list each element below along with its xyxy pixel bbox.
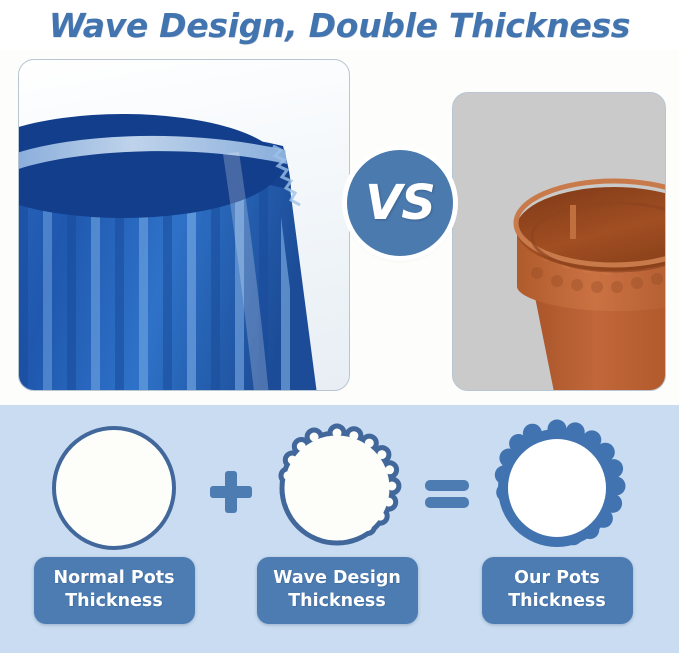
comparison-section: VS: [0, 50, 679, 405]
thickness-formula-section: Normal Pots Thickness: [0, 405, 679, 653]
thick-wavy-inner-disc: [508, 439, 606, 537]
label-line-2: Thickness: [42, 590, 187, 613]
formula-item-wave-design: Wave Design Thickness: [254, 419, 420, 624]
blue-pot-photo-card: [18, 59, 350, 391]
wavy-circle-holder: [270, 419, 404, 557]
infographic-root: Wave Design, Double Thickness: [0, 0, 679, 653]
thick-wavy-circle-icon: [484, 415, 630, 561]
terracotta-pot-illustration: [475, 137, 666, 391]
label-wave-design-thickness: Wave Design Thickness: [257, 557, 418, 624]
page-title: Wave Design, Double Thickness: [49, 6, 630, 45]
plus-operator-icon: [206, 467, 256, 517]
wavy-circle-shape: [276, 426, 399, 549]
equals-operator-icon: [422, 467, 472, 517]
label-line-1: Wave Design: [265, 567, 410, 590]
label-line-2: Thickness: [265, 590, 410, 613]
plain-circle-holder: [47, 419, 181, 557]
label-line-2: Thickness: [490, 590, 625, 613]
formula-item-our-pots: Our Pots Thickness: [474, 419, 640, 624]
terracotta-pot-photo-card: [452, 92, 666, 391]
versus-badge: VS: [347, 150, 453, 256]
title-bar: Wave Design, Double Thickness: [0, 0, 679, 50]
wavy-circle-icon: [270, 421, 404, 555]
thick-wavy-circle-holder: [484, 419, 630, 557]
terracotta-inner-tab: [570, 205, 576, 239]
versus-label: VS: [365, 179, 435, 227]
label-our-pots-thickness: Our Pots Thickness: [482, 557, 633, 624]
formula-item-normal-pots: Normal Pots Thickness: [31, 419, 197, 624]
label-line-1: Our Pots: [490, 567, 625, 590]
blue-ribbed-pot-illustration: [18, 94, 350, 391]
thick-wavy-ring: [495, 420, 626, 548]
plain-circle-icon: [47, 421, 181, 555]
label-normal-pots-thickness: Normal Pots Thickness: [34, 557, 195, 624]
label-line-1: Normal Pots: [42, 567, 187, 590]
